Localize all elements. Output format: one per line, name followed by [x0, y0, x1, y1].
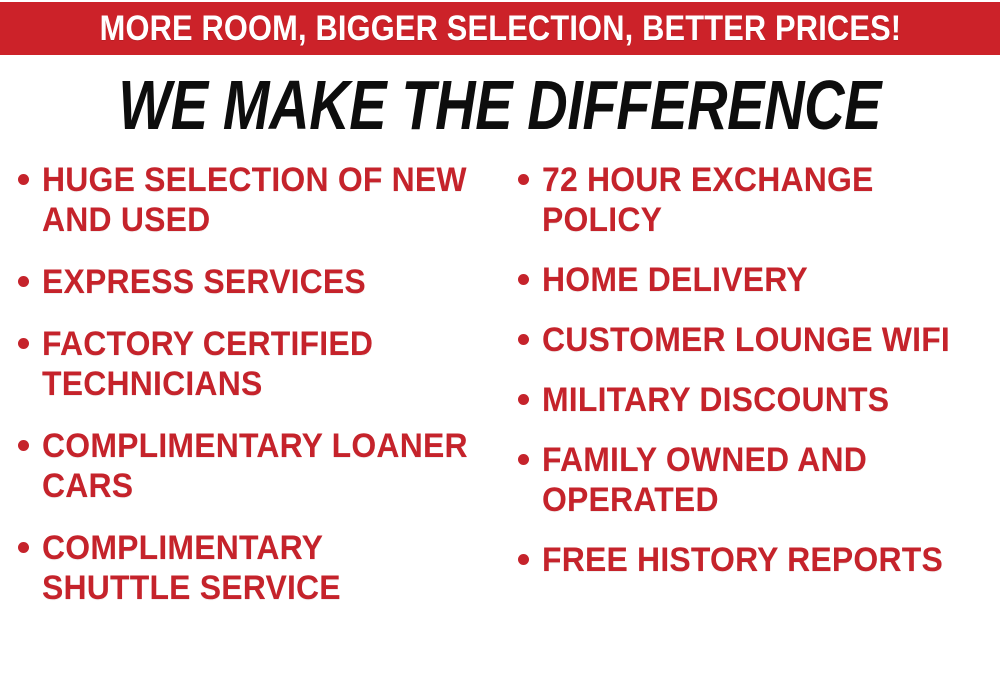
list-item: EXPRESS SERVICES — [18, 262, 498, 302]
top-banner: MORE ROOM, BIGGER SELECTION, BETTER PRIC… — [0, 2, 1000, 55]
bullet-dot-icon — [18, 440, 29, 451]
list-item: HUGE SELECTION OF NEW AND USED — [18, 160, 498, 240]
list-item-label: COMPLIMENTARY SHUTTLE SERVICE — [42, 528, 471, 608]
bullet-dot-icon — [518, 394, 529, 405]
list-item: 72 HOUR EXCHANGE POLICY — [518, 160, 1000, 240]
bullet-dot-icon — [18, 174, 29, 185]
features-column-right: 72 HOUR EXCHANGE POLICY HOME DELIVERY CU… — [518, 160, 1000, 600]
page-title: WE MAKE THE DIFFERENCE — [0, 68, 1000, 142]
list-item-label: HOME DELIVERY — [542, 260, 973, 300]
list-item-label: 72 HOUR EXCHANGE POLICY — [542, 160, 973, 240]
list-item-label: FAMILY OWNED AND OPERATED — [542, 440, 973, 520]
bullet-dot-icon — [518, 454, 529, 465]
bullet-dot-icon — [18, 338, 29, 349]
list-item-label: COMPLIMENTARY LOANER CARS — [42, 426, 471, 506]
list-item: HOME DELIVERY — [518, 260, 1000, 300]
bullet-dot-icon — [518, 274, 529, 285]
list-item-label: FACTORY CERTIFIED TECHNICIANS — [42, 324, 471, 404]
bullet-dot-icon — [518, 334, 529, 345]
list-item: COMPLIMENTARY LOANER CARS — [18, 426, 498, 506]
bullet-dot-icon — [518, 554, 529, 565]
list-item-label: HUGE SELECTION OF NEW AND USED — [42, 160, 471, 240]
list-item: FREE HISTORY REPORTS — [518, 540, 1000, 580]
bullet-dot-icon — [18, 276, 29, 287]
list-item: COMPLIMENTARY SHUTTLE SERVICE — [18, 528, 498, 608]
list-item: CUSTOMER LOUNGE WIFI — [518, 320, 1000, 360]
promotional-poster: MORE ROOM, BIGGER SELECTION, BETTER PRIC… — [0, 0, 1000, 694]
list-item-label: MILITARY DISCOUNTS — [542, 380, 973, 420]
list-item: FACTORY CERTIFIED TECHNICIANS — [18, 324, 498, 404]
banner-headline-text: MORE ROOM, BIGGER SELECTION, BETTER PRIC… — [99, 11, 901, 46]
list-item: MILITARY DISCOUNTS — [518, 380, 1000, 420]
bullet-dot-icon — [18, 542, 29, 553]
page-title-text: WE MAKE THE DIFFERENCE — [119, 68, 882, 142]
features-columns: HUGE SELECTION OF NEW AND USED EXPRESS S… — [0, 160, 1000, 694]
bullet-dot-icon — [518, 174, 529, 185]
list-item: FAMILY OWNED AND OPERATED — [518, 440, 1000, 520]
features-column-left: HUGE SELECTION OF NEW AND USED EXPRESS S… — [18, 160, 498, 630]
list-item-label: EXPRESS SERVICES — [42, 262, 471, 302]
list-item-label: CUSTOMER LOUNGE WIFI — [542, 320, 973, 360]
list-item-label: FREE HISTORY REPORTS — [542, 540, 973, 580]
